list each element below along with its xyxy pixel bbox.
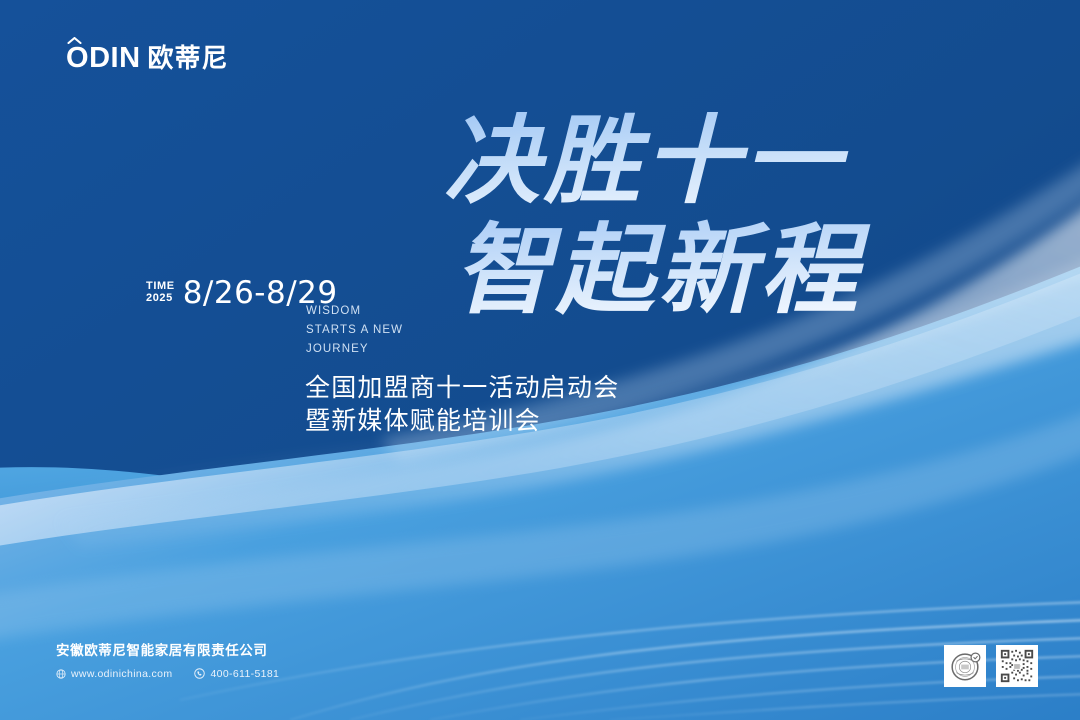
headline-line-2: 智起新程 [454,214,871,328]
phone-icon [194,668,205,679]
tagline-line-3: JOURNEY [306,340,403,359]
headline-svg: 决胜十一 智起新程 [440,108,910,348]
subtitle-line-1: 全国加盟商十一活动启动会 [305,371,619,404]
brand-logo: O DIN 欧蒂尼 [66,44,229,73]
qr-code-graphic [998,647,1036,685]
headline-calligraphy: 决胜十一 智起新程 [440,108,910,348]
code-tiles [944,645,1038,687]
phone-item: 400-611-5181 [194,668,279,680]
tagline-line-1: WISDOM [306,302,403,321]
time-label: TIME [146,281,175,293]
brand-logo-latin-rest: DIN [89,42,140,74]
globe-icon [56,669,66,679]
event-subtitle: 全国加盟商十一活动启动会 暨新媒体赋能培训会 [305,371,619,437]
time-label-stack: TIME 2025 [146,281,175,307]
year-label: 2025 [146,293,175,305]
poster-canvas: O DIN 欧蒂尼 决胜十一 [0,0,1080,720]
company-name: 安徽欧蒂尼智能家居有限责任公司 [56,645,279,659]
seal-logo-code[interactable] [944,645,986,687]
english-tagline: WISDOM STARTS A NEW JOURNEY [306,302,403,359]
brand-logo-latin: O DIN [66,44,141,73]
contact-row: www.odinichina.com 400-611-5181 [56,668,279,680]
website-text: www.odinichina.com [71,668,172,680]
phone-text: 400-611-5181 [210,668,279,680]
tagline-line-2: STARTS A NEW [306,321,403,340]
website-item: www.odinichina.com [56,668,172,680]
footer-info: 安徽欧蒂尼智能家居有限责任公司 www.odinichina.com 400-6… [56,645,279,680]
headline-line-1: 决胜十一 [444,105,849,217]
subtitle-line-2: 暨新媒体赋能培训会 [305,404,619,437]
brand-logo-chinese: 欧蒂尼 [148,46,229,72]
brand-logo-o-letter: O [66,42,89,74]
qr-code[interactable] [996,645,1038,687]
seal-logo-code-graphic [946,647,984,685]
